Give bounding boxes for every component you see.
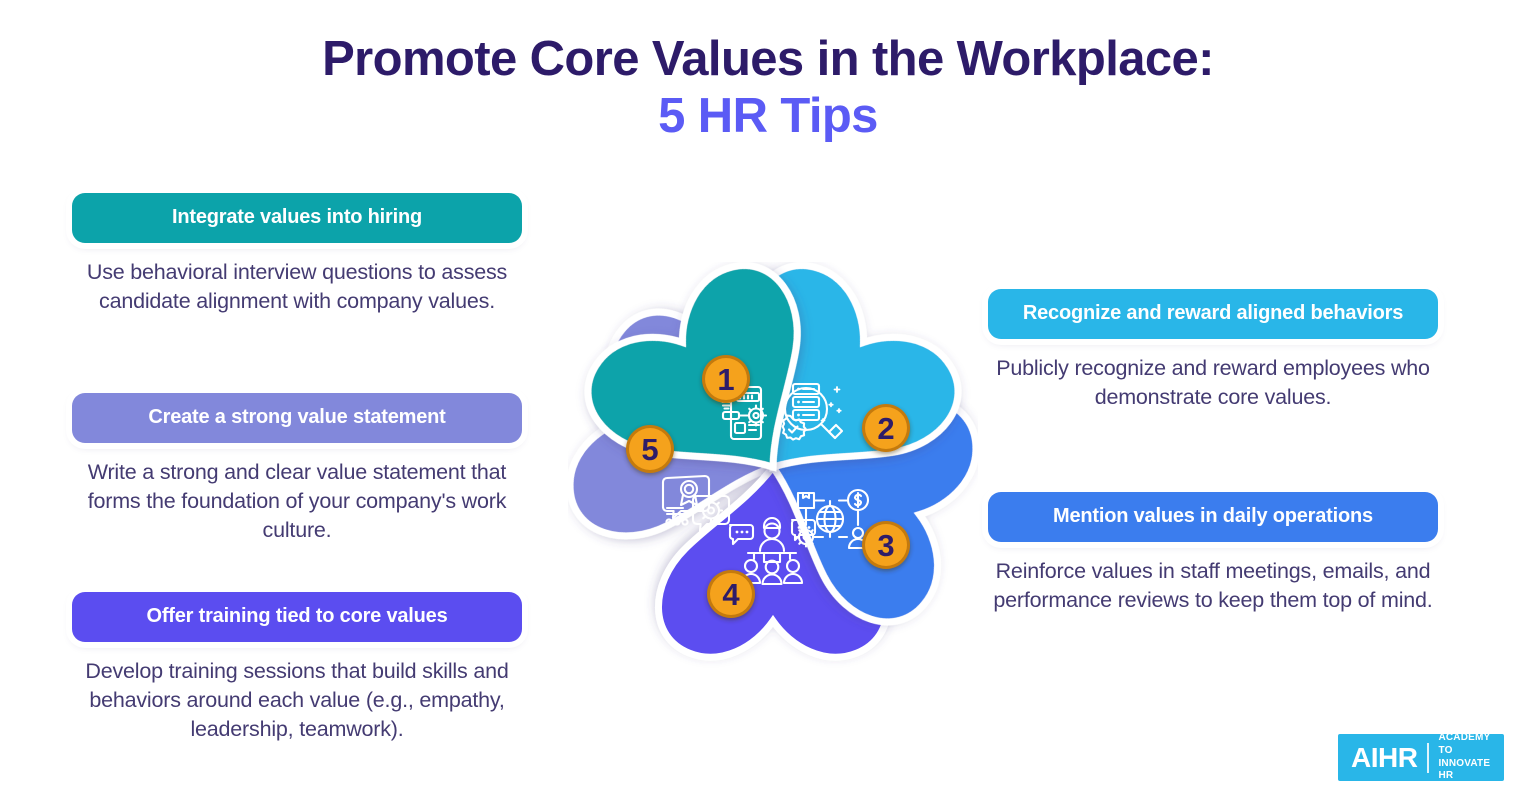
petal-badge-4-number: 4 (722, 577, 740, 612)
tip-card-3-heading: Mention values in daily operations (988, 492, 1438, 542)
page-title: Promote Core Values in the Workplace: 5 … (0, 32, 1536, 147)
petal-badge-4[interactable]: 4 (707, 570, 755, 618)
aihr-logo-divider (1427, 743, 1429, 773)
aihr-logo-tagline-line-1: ACADEMY TO (1438, 732, 1491, 758)
tip-card-5-heading: Create a strong value statement (72, 393, 522, 443)
tip-card-3-body: Reinforce values in staff meetings, emai… (988, 557, 1438, 615)
petal-badge-3[interactable]: 3 (862, 521, 910, 569)
five-petal-flower-diagram: 1 2 3 4 5 (568, 262, 978, 672)
tip-card-1-body: Use behavioral interview questions to as… (72, 258, 522, 316)
aihr-logo: AIHR ACADEMY TO INNOVATE HR (1338, 734, 1504, 781)
tip-card-2: Recognize and reward aligned behaviors P… (988, 289, 1438, 412)
tip-card-1: Integrate values into hiring Use behavio… (72, 193, 522, 316)
tip-card-4-heading: Offer training tied to core values (72, 592, 522, 642)
tip-card-3: Mention values in daily operations Reinf… (988, 492, 1438, 615)
aihr-logo-tagline: ACADEMY TO INNOVATE HR (1438, 732, 1491, 783)
tip-card-5-body: Write a strong and clear value statement… (72, 458, 522, 545)
tip-card-1-heading: Integrate values into hiring (72, 193, 522, 243)
tip-card-4: Offer training tied to core values Devel… (72, 592, 522, 744)
petal-badge-2[interactable]: 2 (862, 404, 910, 452)
petal-badge-3-number: 3 (877, 528, 894, 563)
petal-badge-2-number: 2 (877, 411, 894, 446)
tip-card-2-body: Publicly recognize and reward employees … (988, 354, 1438, 412)
aihr-logo-tagline-line-2: INNOVATE HR (1438, 758, 1491, 784)
petal-badge-1-number: 1 (717, 362, 734, 397)
petal-badge-5[interactable]: 5 (626, 425, 674, 473)
page-title-line-1: Promote Core Values in the Workplace: (0, 32, 1536, 87)
page-title-line-2: 5 HR Tips (0, 87, 1536, 147)
tip-card-2-heading: Recognize and reward aligned behaviors (988, 289, 1438, 339)
aihr-logo-wordmark: AIHR (1351, 744, 1417, 772)
tip-card-5: Create a strong value statement Write a … (72, 393, 522, 545)
petal-badge-1[interactable]: 1 (702, 355, 750, 403)
petal-badge-5-number: 5 (641, 432, 658, 467)
tip-card-4-body: Develop training sessions that build ski… (72, 657, 522, 744)
